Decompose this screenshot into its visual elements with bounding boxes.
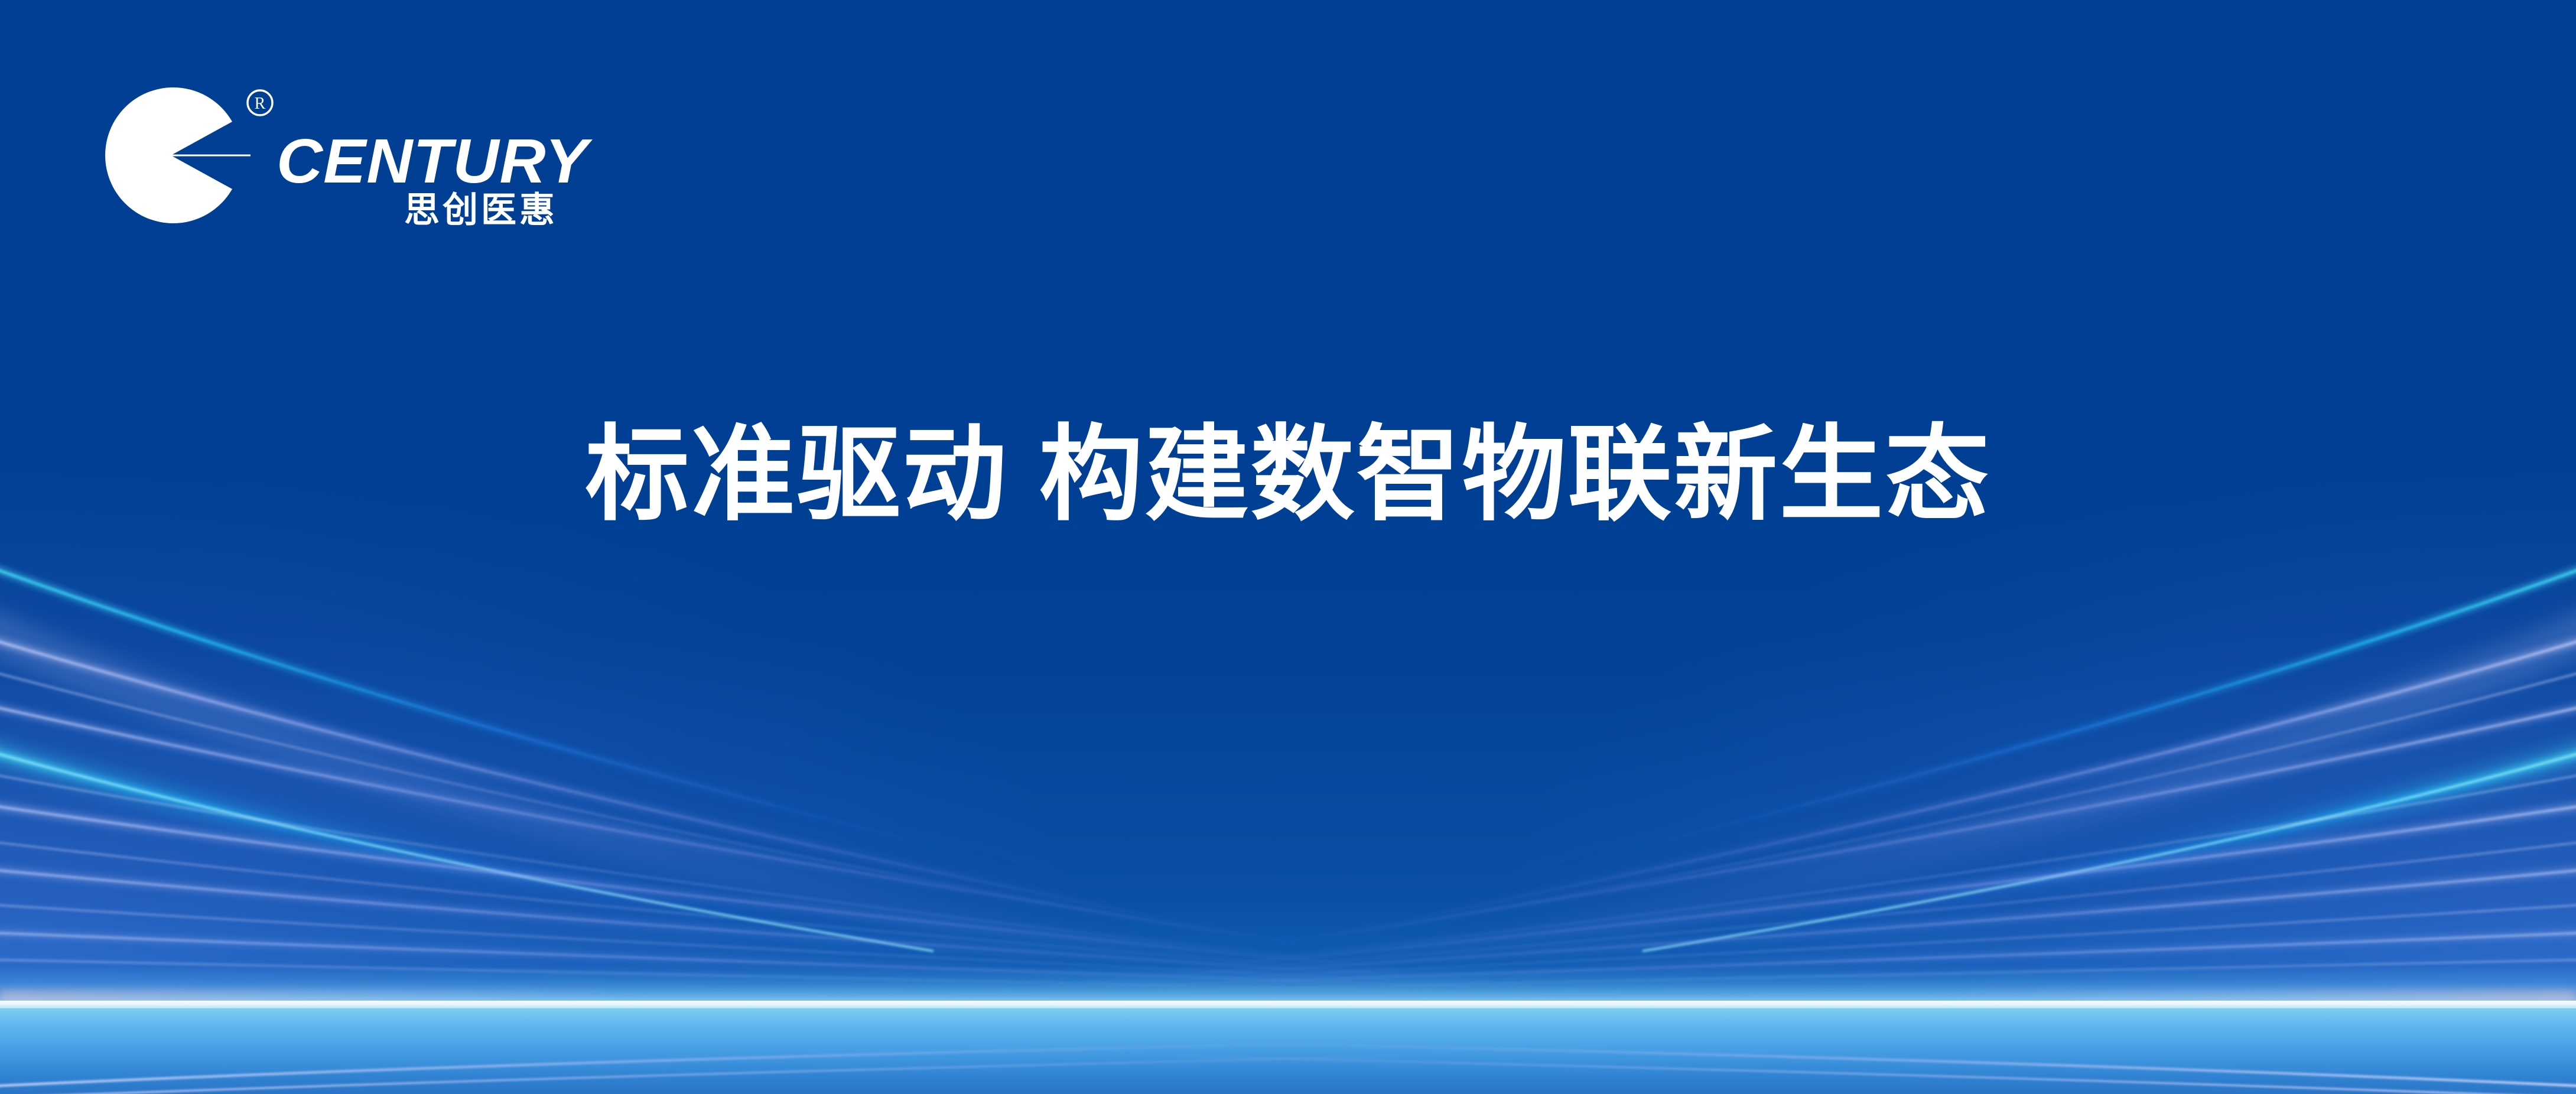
page-title: 标准驱动 构建数智物联新生态 (0, 417, 2576, 533)
logo-chinese-name: 思创医惠 (404, 193, 558, 228)
banner-slide: R CENTURY 思创医惠 标准驱动 构建数智物联新生态 (0, 0, 2576, 1094)
registered-trademark-icon: R (246, 89, 274, 117)
century-c-mark-icon (105, 87, 251, 223)
logo-wordmark: CENTURY (277, 130, 588, 193)
company-logo[interactable]: R CENTURY 思创医惠 (105, 76, 625, 234)
svg-text:R: R (255, 95, 266, 113)
ground-reflection-streaks (0, 1008, 2576, 1094)
